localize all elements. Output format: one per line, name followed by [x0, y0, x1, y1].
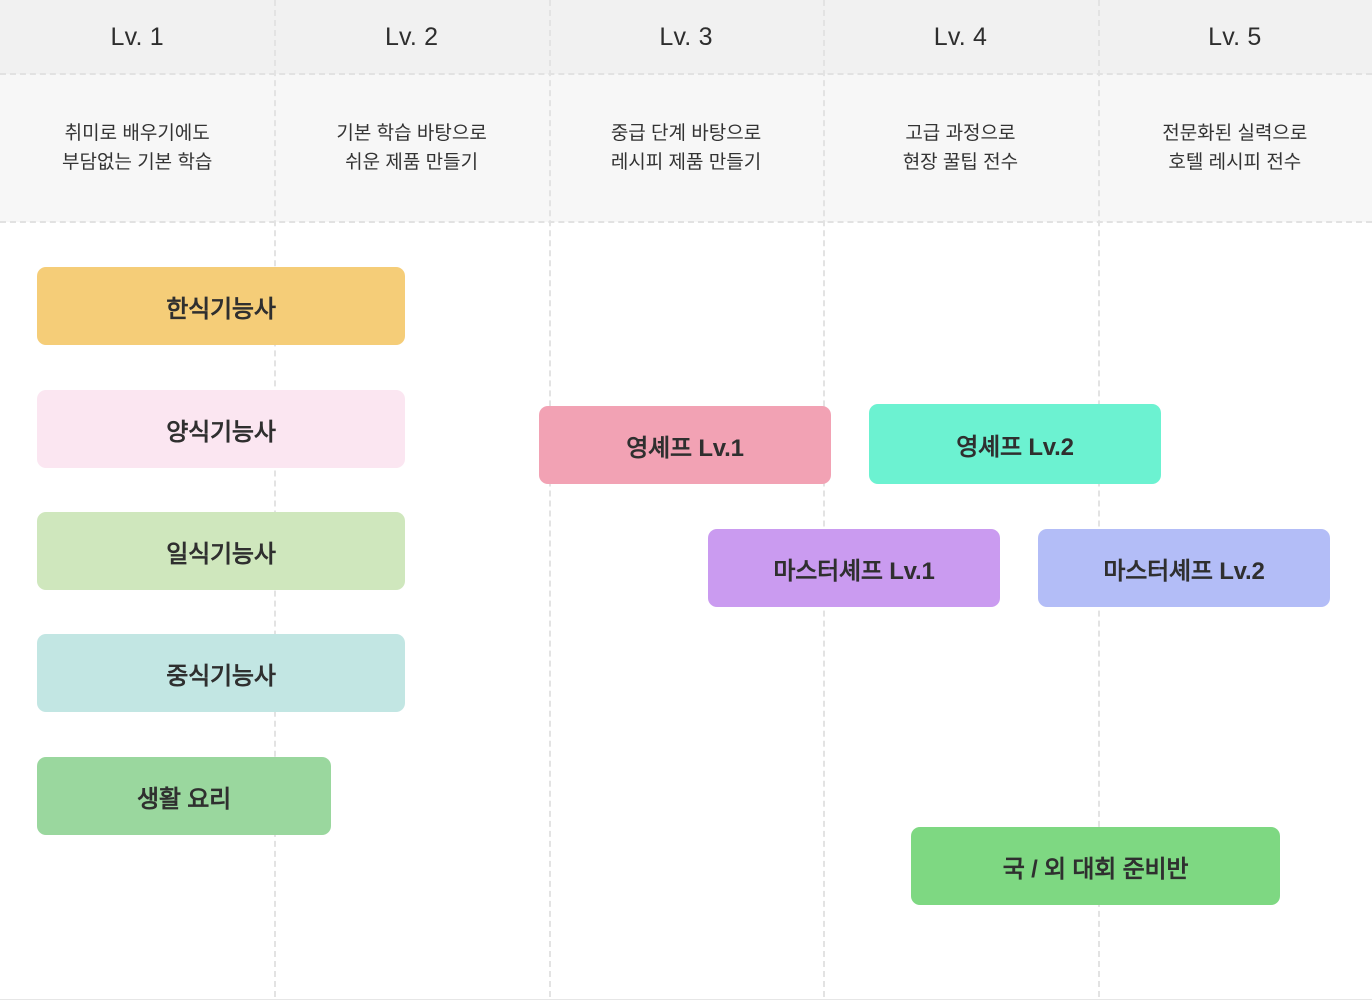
- course-bar[interactable]: 한식기능사: [37, 267, 405, 345]
- level-description-row: 취미로 배우기에도 부담없는 기본 학습기본 학습 바탕으로 쉬운 제품 만들기…: [0, 74, 1372, 222]
- level-header-row: Lv. 1Lv. 2Lv. 3Lv. 4Lv. 5: [0, 0, 1372, 74]
- course-bar[interactable]: 마스터셰프 Lv.2: [1038, 529, 1330, 607]
- course-bar[interactable]: 일식기능사: [37, 512, 405, 590]
- level-description-3: 중급 단계 바탕으로 레시피 제품 만들기: [549, 74, 823, 222]
- level-header-5: Lv. 5: [1098, 0, 1372, 74]
- course-bar[interactable]: 중식기능사: [37, 634, 405, 712]
- course-bar[interactable]: 마스터셰프 Lv.1: [708, 529, 1000, 607]
- level-description-4: 고급 과정으로 현장 꿀팁 전수: [823, 74, 1097, 222]
- curriculum-level-chart: Lv. 1Lv. 2Lv. 3Lv. 4Lv. 5 취미로 배우기에도 부담없는…: [0, 0, 1372, 1000]
- course-bar[interactable]: 생활 요리: [37, 757, 331, 835]
- level-header-2: Lv. 2: [274, 0, 548, 74]
- level-header-4: Lv. 4: [823, 0, 1097, 74]
- course-bar[interactable]: 국 / 외 대회 준비반: [911, 827, 1280, 905]
- level-header-1: Lv. 1: [0, 0, 274, 74]
- level-description-5: 전문화된 실력으로 호텔 레시피 전수: [1098, 74, 1372, 222]
- course-bar[interactable]: 영셰프 Lv.2: [869, 404, 1161, 484]
- level-description-2: 기본 학습 바탕으로 쉬운 제품 만들기: [274, 74, 548, 222]
- course-bar[interactable]: 영셰프 Lv.1: [539, 406, 831, 484]
- course-bar[interactable]: 양식기능사: [37, 390, 405, 468]
- level-header-3: Lv. 3: [549, 0, 823, 74]
- level-description-1: 취미로 배우기에도 부담없는 기본 학습: [0, 74, 274, 222]
